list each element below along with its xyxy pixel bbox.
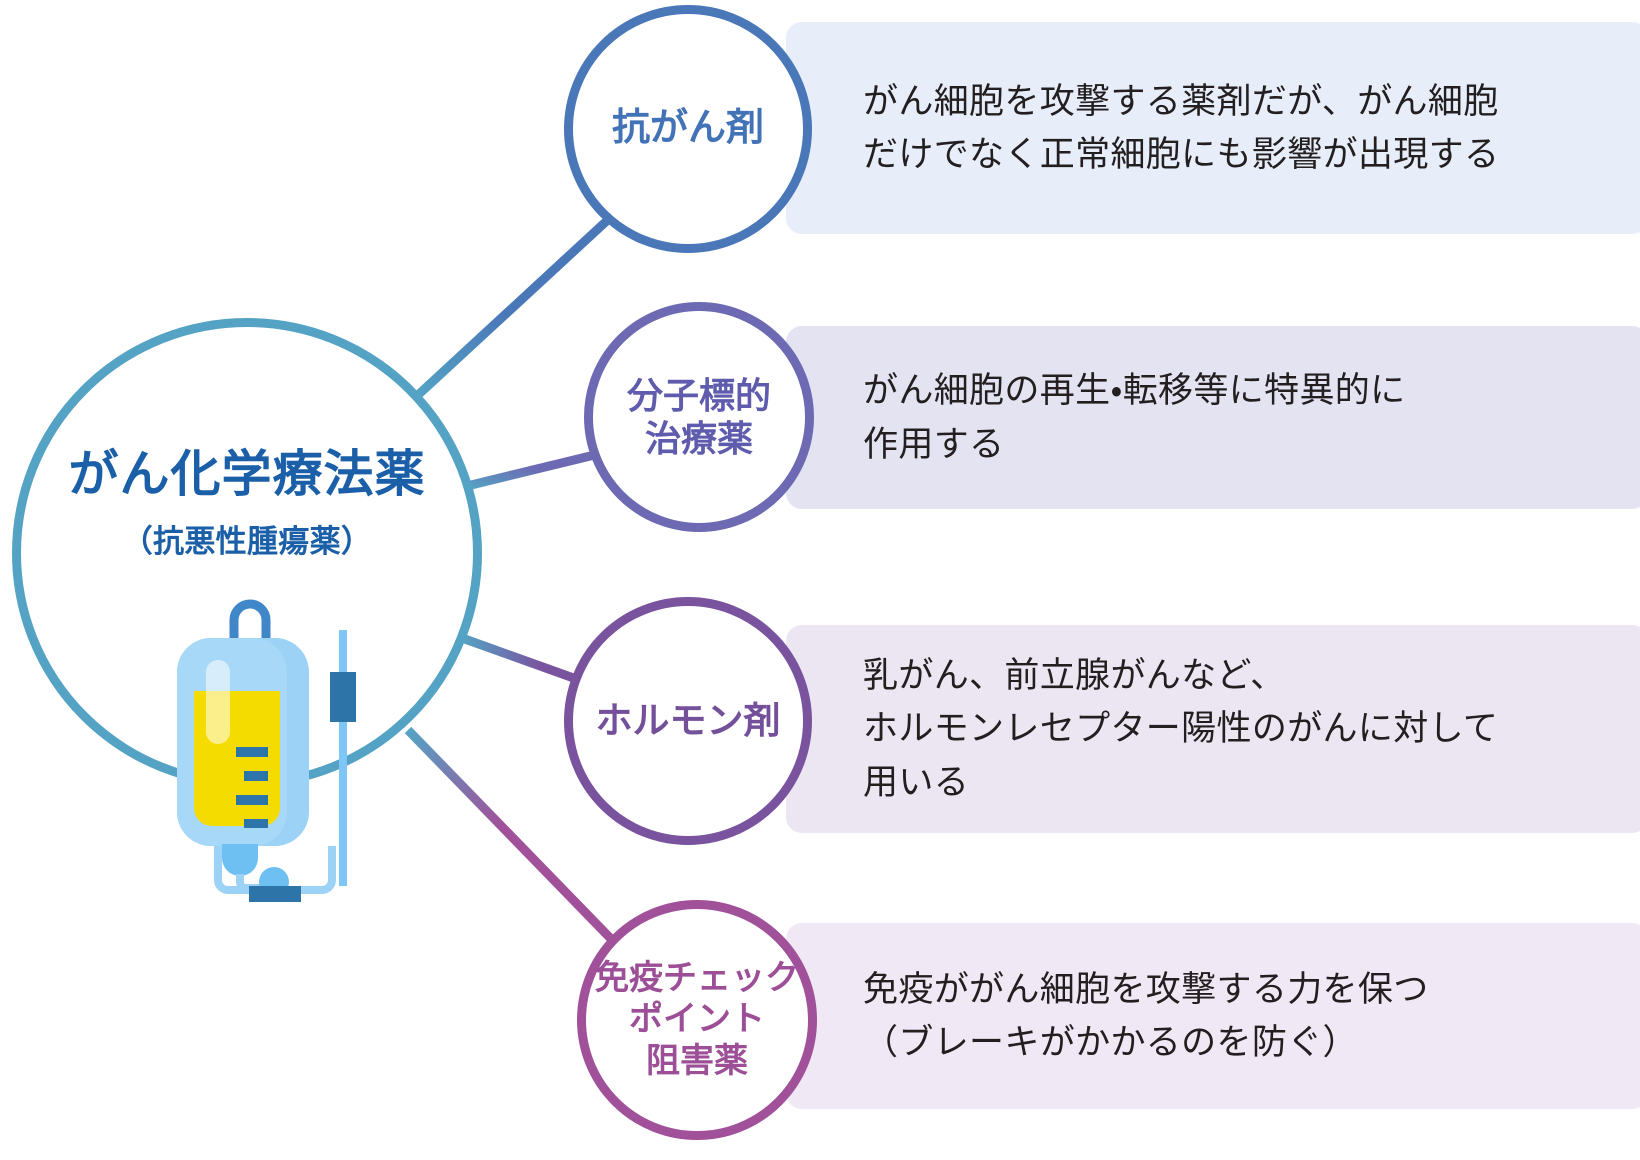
branch-node-hormone-drug[interactable]: ホルモン剤	[564, 597, 812, 845]
branch-node-molecular-targeted-drug[interactable]: 分子標的 治療薬	[584, 302, 814, 532]
description-text: 乳がん、前立腺がんなど、 ホルモンレセプター陽性のがんに対して 用いる	[786, 649, 1498, 809]
connector-anticancer-drug	[418, 216, 612, 395]
description-text: 免疫ががん細胞を攻撃する力を保つ （ブレーキがかかるのを防ぐ）	[786, 963, 1429, 1069]
branch-node-immune-checkpoint-inhibitor[interactable]: 免疫チェック ポイント 阻害薬	[577, 900, 817, 1140]
description-panel-hormone-drug: 乳がん、前立腺がんなど、 ホルモンレセプター陽性のがんに対して 用いる	[786, 625, 1640, 833]
branch-label: 分子標的 治療薬	[627, 374, 771, 460]
description-panel-molecular-targeted-drug: がん細胞の再生・転移等に特異的に 作用する	[786, 326, 1640, 509]
description-panel-anticancer-drug: がん細胞を攻撃する薬剤だが、がん細胞 だけでなく正常細胞にも影響が出現する	[786, 22, 1640, 234]
description-text: がん細胞の再生・転移等に特異的に 作用する	[786, 364, 1406, 470]
description-text: がん細胞を攻撃する薬剤だが、がん細胞 だけでなく正常細胞にも影響が出現する	[786, 75, 1499, 181]
diagram-canvas: がん細胞を攻撃する薬剤だが、がん細胞 だけでなく正常細胞にも影響が出現する がん…	[0, 0, 1640, 1160]
branch-label: ホルモン剤	[596, 699, 781, 743]
hub-title: がん化学療法薬	[69, 434, 426, 506]
hub-subtitle: （抗悪性腫瘍薬）	[122, 516, 372, 561]
branch-label: 抗がん剤	[612, 106, 764, 152]
branch-label: 免疫チェック ポイント 阻害薬	[595, 958, 799, 1082]
branch-node-anticancer-drug[interactable]: 抗がん剤	[564, 5, 812, 253]
iv-tube-connector	[122, 846, 382, 906]
description-panel-immune-checkpoint-inhibitor: 免疫ががん細胞を攻撃する力を保つ （ブレーキがかかるのを防ぐ）	[786, 923, 1640, 1109]
iv-drip-bag-icon	[122, 586, 382, 886]
